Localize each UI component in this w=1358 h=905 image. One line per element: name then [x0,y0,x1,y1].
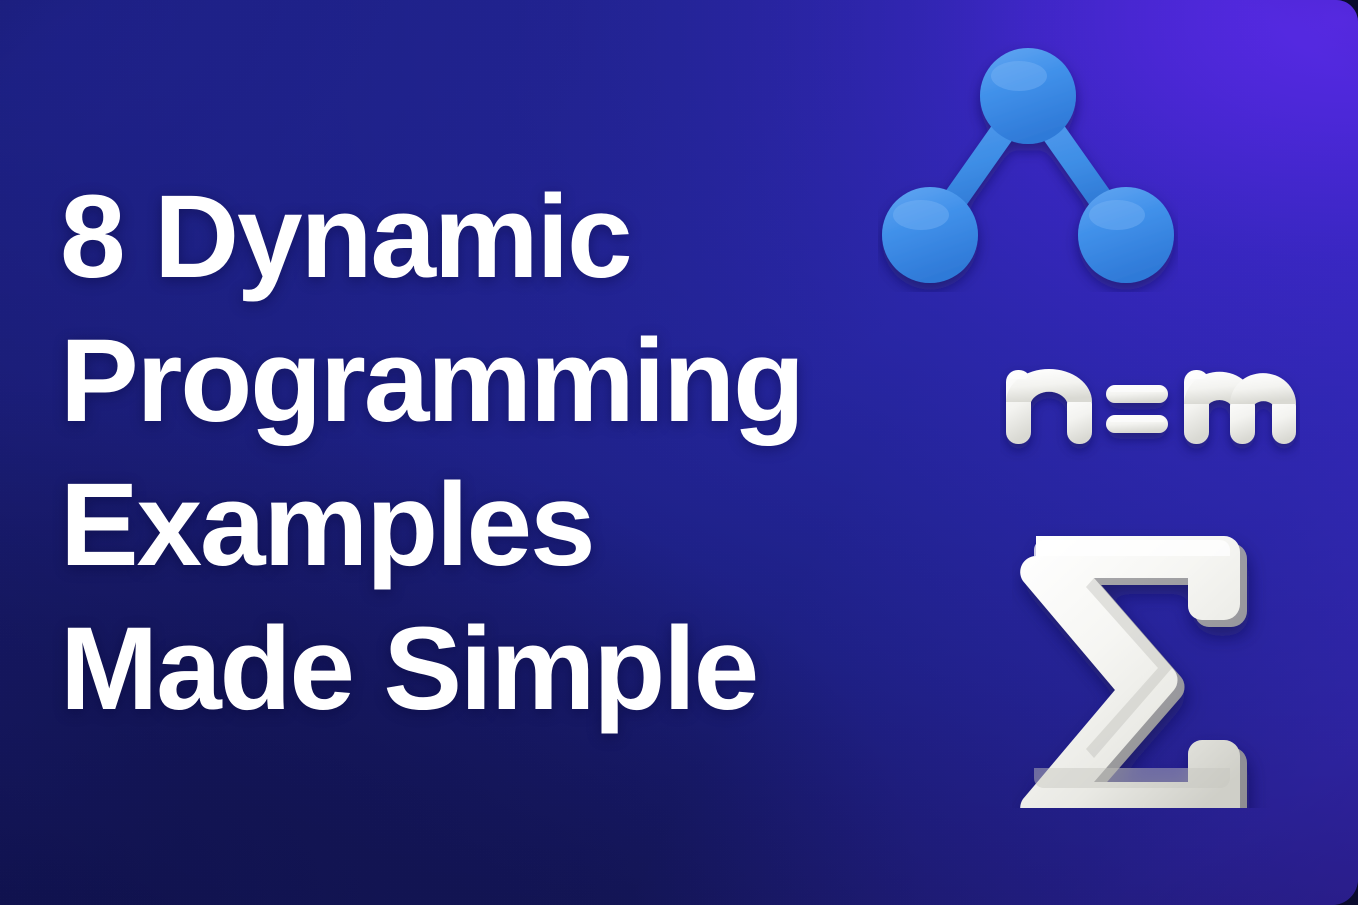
sigma-summation-symbol [1012,516,1270,808]
article-hero-banner: 8 Dynamic Programming Examples Made Simp… [0,0,1358,905]
headline-line-3: Examples [60,453,960,597]
headline-line-1: 8 Dynamic [60,165,960,309]
equation-n-equals-m [1000,352,1300,462]
page-title: 8 Dynamic Programming Examples Made Simp… [60,165,960,741]
headline-line-4: Made Simple [60,597,960,741]
headline-line-2: Programming [60,309,960,453]
